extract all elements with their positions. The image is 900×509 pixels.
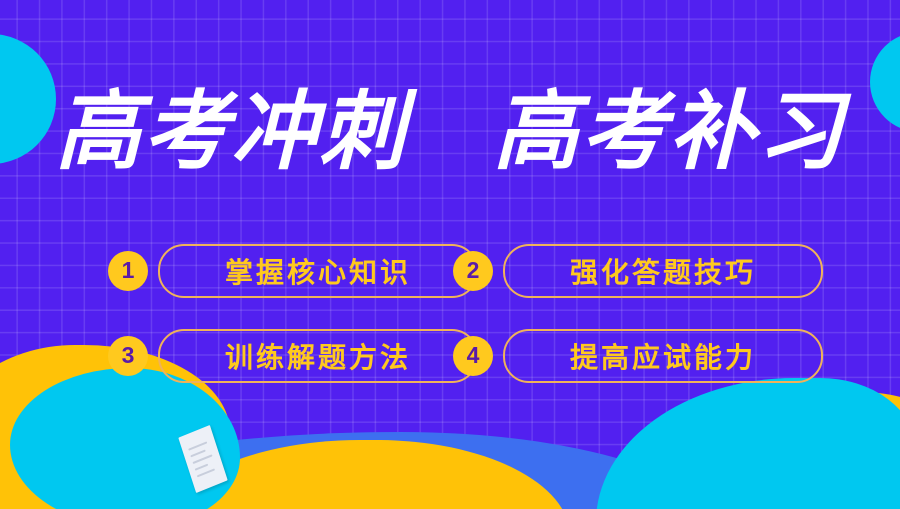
feature-number-badge-1: 1 xyxy=(108,251,148,291)
banner-headline: 高考冲刺 高考补习 xyxy=(0,84,900,180)
headline-part-2: 高考补习 xyxy=(493,84,845,180)
feature-pill-4: 提高应试能力 xyxy=(503,329,823,383)
feature-pill-2: 强化答题技巧 xyxy=(503,244,823,298)
feature-item-2: 2 强化答题技巧 xyxy=(453,228,798,313)
feature-pill-3: 训练解题方法 xyxy=(158,329,478,383)
headline-part-1: 高考冲刺 xyxy=(55,84,407,180)
feature-item-3: 3 训练解题方法 xyxy=(108,313,453,398)
feature-item-1: 1 掌握核心知识 xyxy=(108,228,453,313)
promo-banner: 高考冲刺 高考补习 1 掌握核心知识 2 强化答题技巧 3 训练解题方法 4 提… xyxy=(0,0,900,509)
feature-item-4: 4 提高应试能力 xyxy=(453,313,798,398)
feature-list: 1 掌握核心知识 2 强化答题技巧 3 训练解题方法 4 提高应试能力 xyxy=(108,228,798,398)
feature-number-badge-4: 4 xyxy=(453,336,493,376)
feature-pill-1: 掌握核心知识 xyxy=(158,244,478,298)
feature-number-badge-2: 2 xyxy=(453,251,493,291)
feature-number-badge-3: 3 xyxy=(108,336,148,376)
